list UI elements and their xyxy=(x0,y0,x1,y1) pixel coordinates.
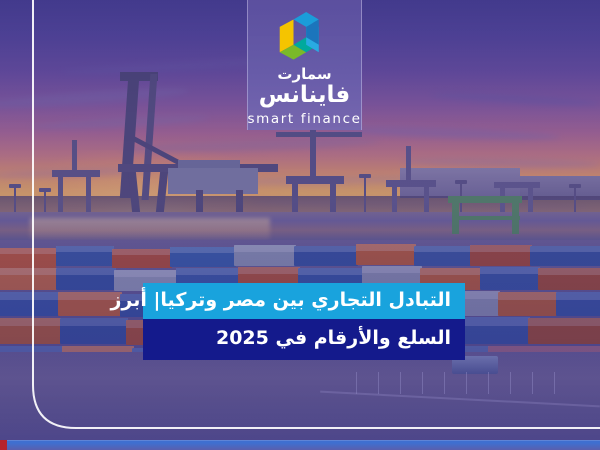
brand-logo-panel: سمارت فاينانس smart finance xyxy=(247,0,362,130)
bottom-bar xyxy=(0,440,600,450)
bottom-bar-accent xyxy=(0,440,7,450)
brand-english-tagline: smart finance xyxy=(248,111,362,127)
headline-line-1: التبادل التجاري بين مصر وتركيا| أبرز xyxy=(143,283,465,319)
headline-line-2: السلع والأرقام في 2025 xyxy=(143,319,465,360)
brand-arabic-line2: فاينانس xyxy=(259,84,351,107)
bottom-bar-hairline xyxy=(0,440,600,441)
hexagon-u-logo-icon xyxy=(276,12,334,66)
promo-card: سمارت فاينانس smart finance التبادل التج… xyxy=(0,0,600,450)
headline-banner: التبادل التجاري بين مصر وتركيا| أبرز الس… xyxy=(143,283,465,360)
brand-arabic-line1: سمارت xyxy=(277,67,331,82)
